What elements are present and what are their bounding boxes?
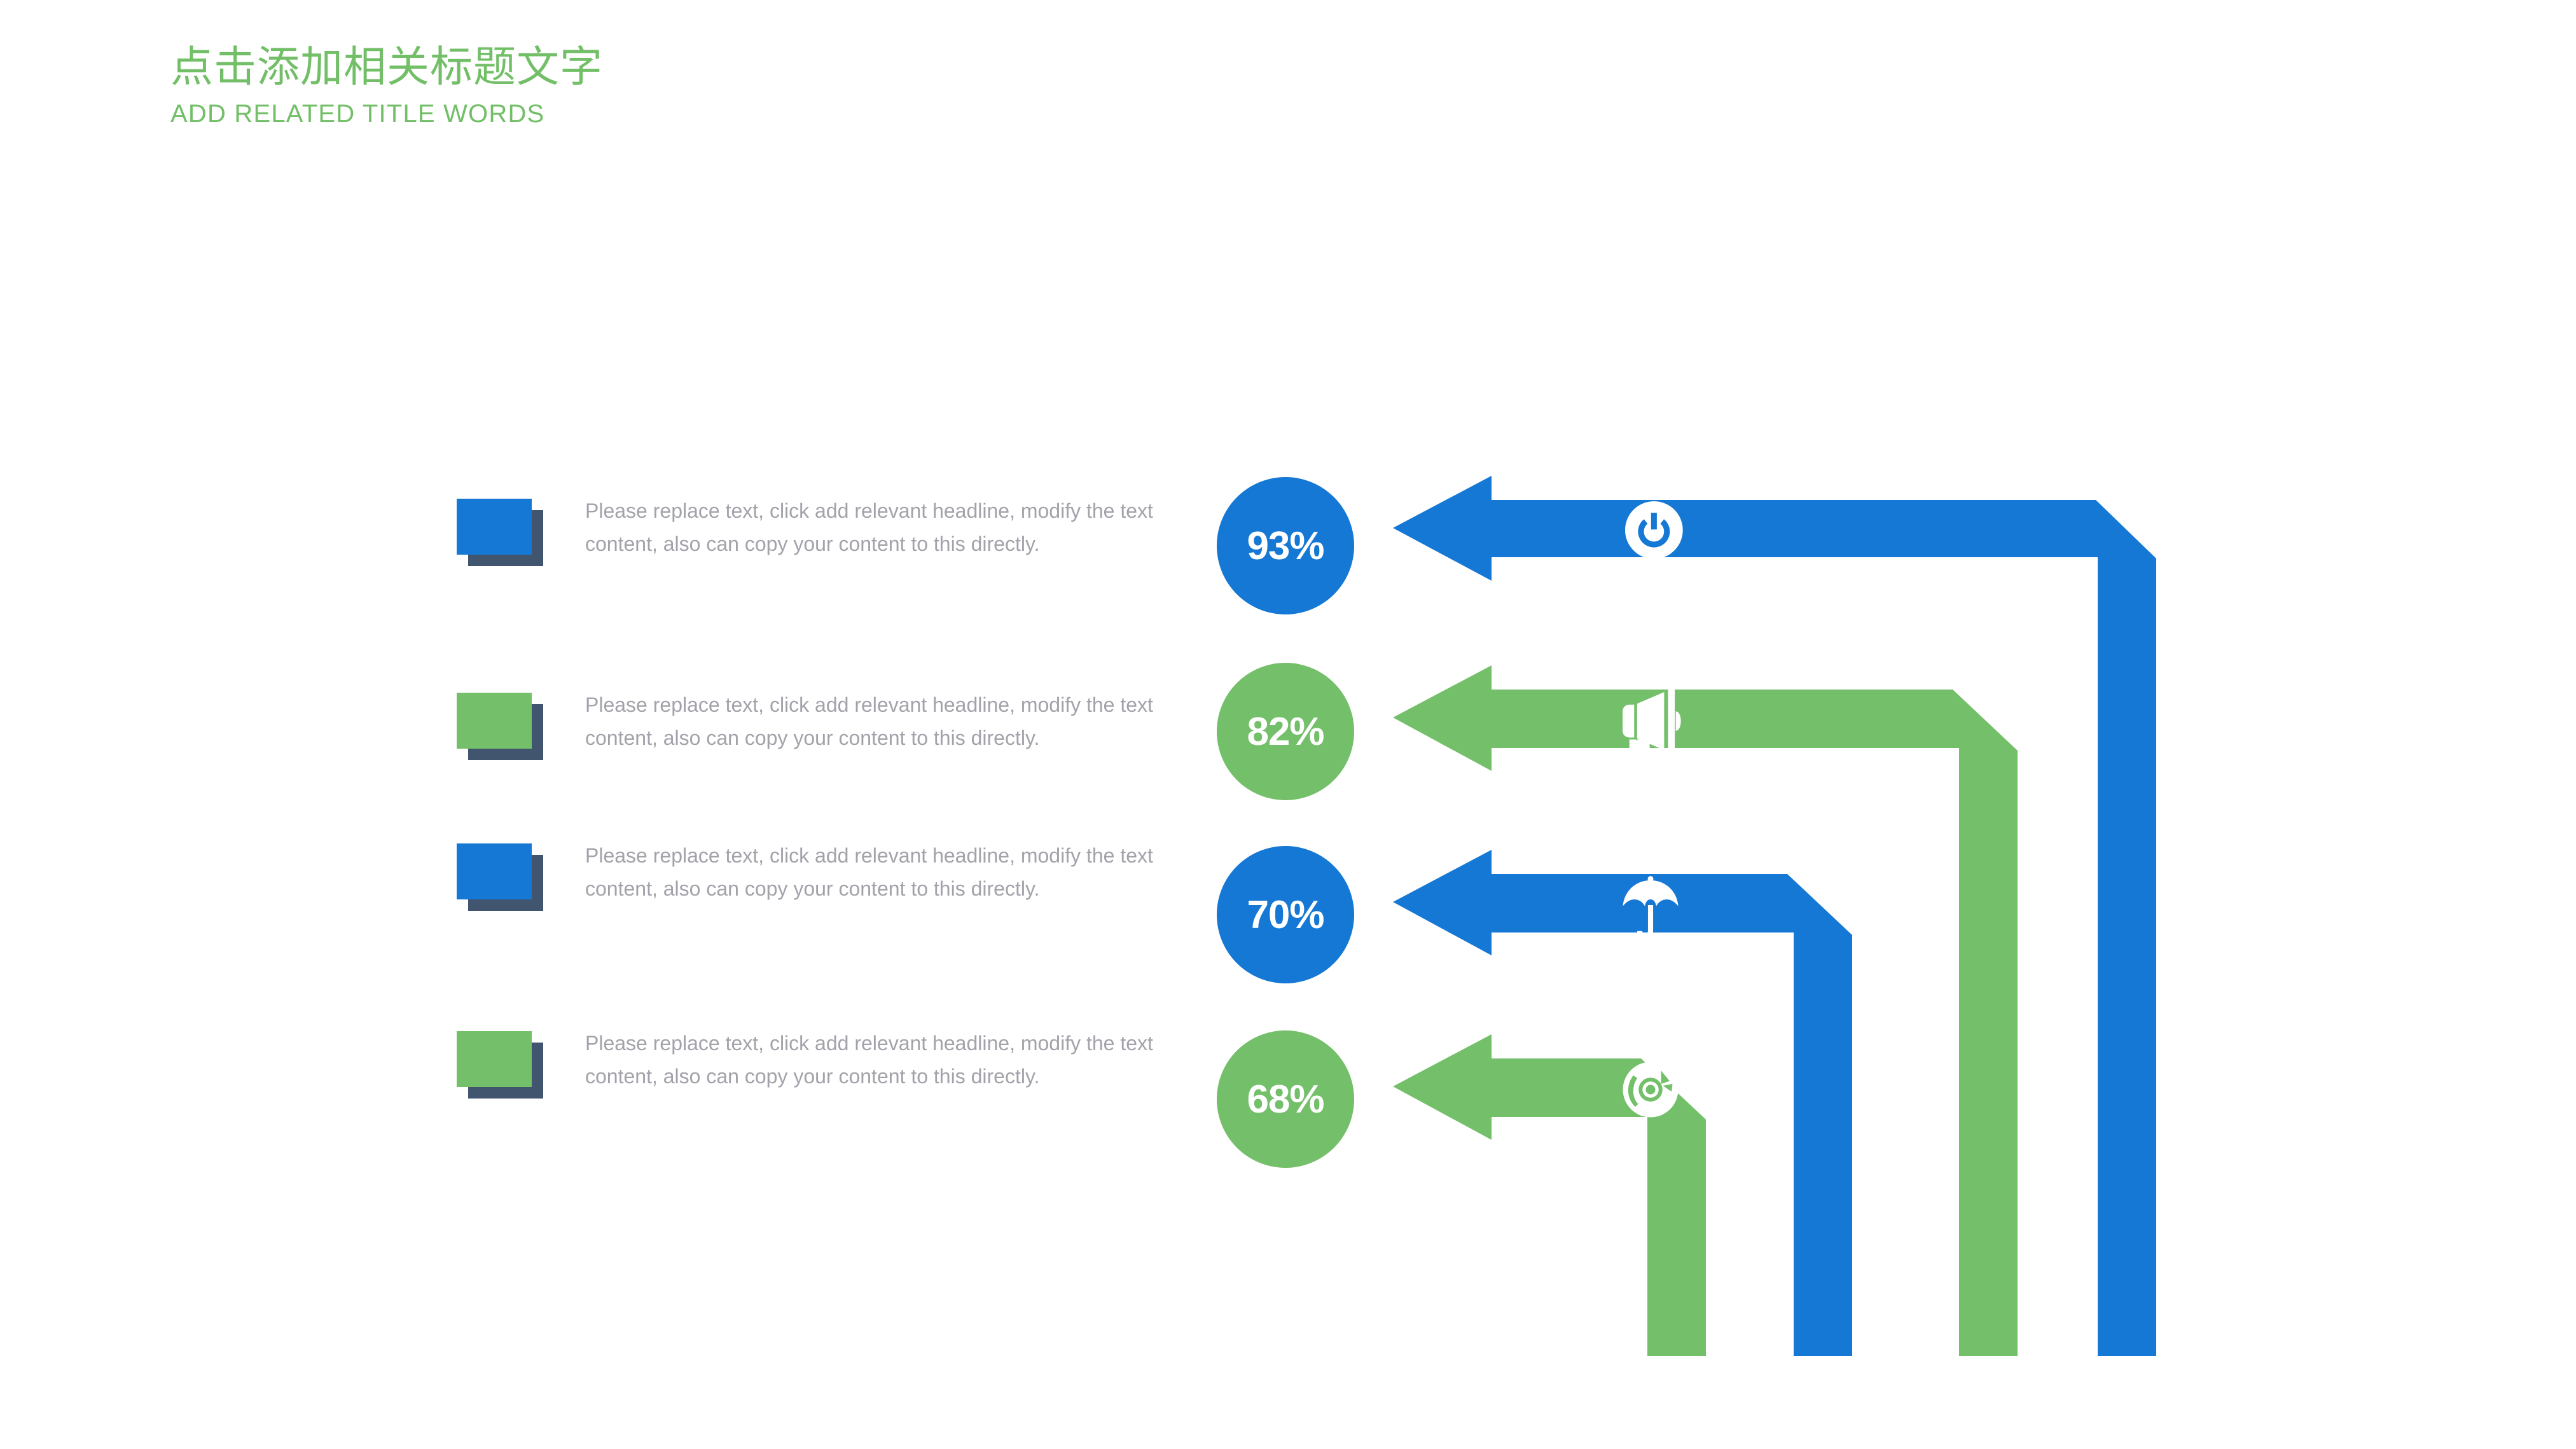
list-item-description: Please replace text, click add relevant … (585, 1027, 1183, 1093)
color-swatch-4 (457, 1031, 543, 1098)
percent-circle-1[interactable]: 93% (1217, 477, 1354, 614)
list-item[interactable]: Please replace text, click add relevant … (445, 1017, 1183, 1113)
list-item-description: Please replace text, click add relevant … (585, 689, 1183, 755)
color-swatch-1 (457, 499, 543, 565)
list-item[interactable]: Please replace text, click add relevant … (445, 485, 1183, 580)
list-item-description: Please replace text, click add relevant … (585, 495, 1183, 561)
power-icon (1625, 501, 1683, 559)
list-item[interactable]: Please replace text, click add relevant … (445, 829, 1183, 925)
page-subtitle: ADD RELATED TITLE WORDS (170, 101, 603, 127)
list-item[interactable]: Please replace text, click add relevant … (445, 679, 1183, 774)
color-swatch-3 (457, 843, 543, 910)
percent-circle-3[interactable]: 70% (1217, 846, 1354, 983)
list-item-description: Please replace text, click add relevant … (585, 840, 1183, 906)
swatch-fill (457, 499, 532, 555)
color-swatch-2 (457, 693, 543, 759)
swatch-fill (457, 1031, 532, 1087)
page-title: 点击添加相关标题文字 (170, 46, 603, 88)
percent-circle-4[interactable]: 68% (1217, 1030, 1354, 1168)
swatch-fill (457, 843, 532, 899)
swatch-fill (457, 693, 532, 749)
percent-circle-2[interactable]: 82% (1217, 663, 1354, 800)
ribbon-arrow-diagram (1368, 471, 2169, 1374)
title-block: 点击添加相关标题文字 ADD RELATED TITLE WORDS (170, 46, 603, 127)
compact-disc-icon (1623, 1062, 1679, 1118)
